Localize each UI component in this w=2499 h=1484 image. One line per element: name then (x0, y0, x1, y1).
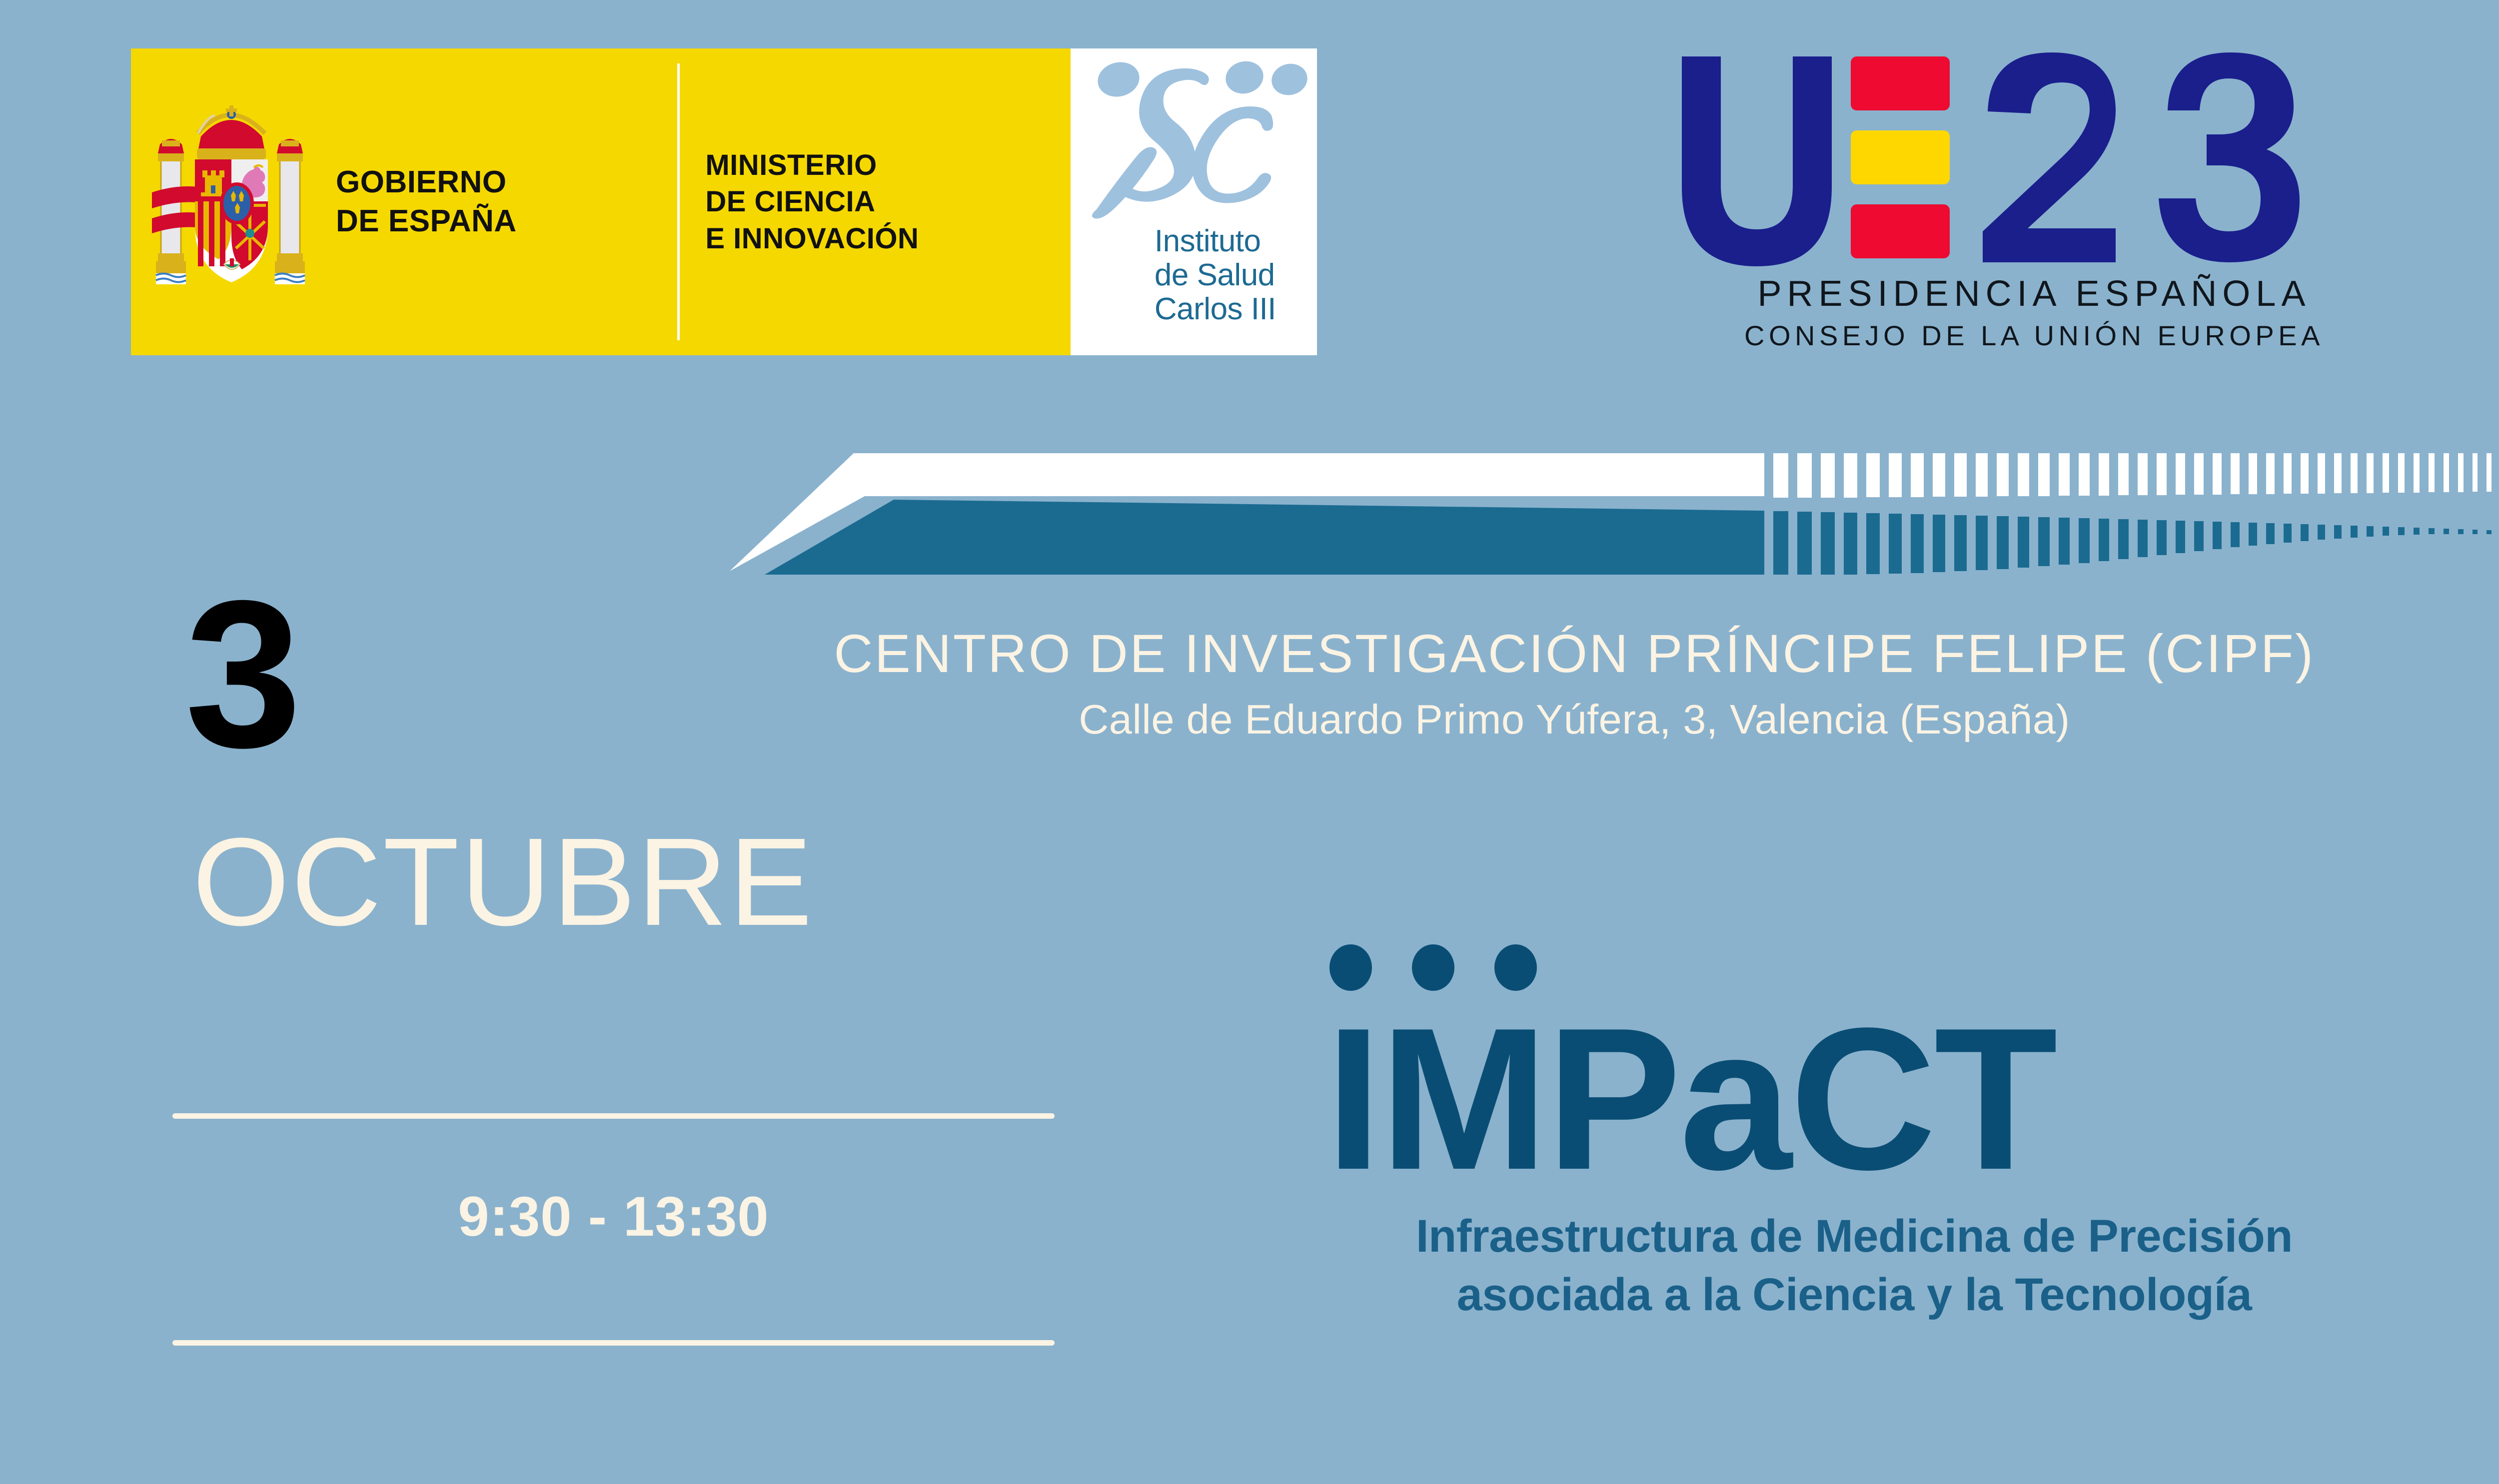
instituto-salud-carlos-iii-logo: Instituto de Salud Carlos III (1071, 48, 1317, 355)
impact-dot-3 (1494, 944, 1537, 991)
ue23-tagline-2: CONSEJO DE LA UNIÓN EUROPEA (1677, 319, 2392, 352)
impact-dot-1 (1329, 944, 1372, 991)
impact-wordmark: IMPaCT (1325, 1006, 2499, 1192)
decorative-arrow-bar (715, 430, 2499, 575)
impact-subtitle: Infraestructura de Medicina de Precisión… (1304, 1207, 2499, 1325)
isc-monogram-icon (1086, 59, 1315, 224)
spain-coat-of-arms-icon (149, 94, 314, 309)
ue23-presidency-logo: PRESIDENCIA ESPAÑOLA CONSEJO DE LA UNIÓN… (1677, 47, 2392, 372)
ue23-tagline-1: PRESIDENCIA ESPAÑOLA (1677, 273, 2392, 314)
impact-subtitle-line-2: asociada a la Ciencia y la Tecnología (1304, 1266, 2404, 1325)
venue-address: Calle de Eduardo Primo Yúfera, 3, Valenc… (600, 696, 2499, 743)
event-day-number: 3 (185, 570, 298, 779)
ministerio-line-1: MINISTERIO (705, 147, 919, 183)
impact-dots-icon (1329, 944, 2499, 997)
logo-divider (677, 63, 680, 340)
venue-info: CENTRO DE INVESTIGACIÓN PRÍNCIPE FELIPE … (600, 622, 2499, 743)
gobierno-line-2: DE ESPAÑA (336, 202, 517, 241)
isciii-line-2: de Salud (1155, 258, 1276, 292)
event-time-range: 9:30 - 13:30 (172, 1184, 1055, 1249)
venue-name: CENTRO DE INVESTIGACIÓN PRÍNCIPE FELIPE … (600, 622, 2499, 685)
isciii-line-3: Carlos III (1155, 292, 1276, 326)
ministerio-line-3: E INNOVACIÓN (705, 220, 919, 257)
ministerio-de-ciencia-logo: MINISTERIO DE CIENCIA E INNOVACIÓN (677, 48, 1071, 355)
impact-dot-2 (1412, 944, 1454, 991)
institutional-logo-strip: GOBIERNO DE ESPAÑA MINISTERIO DE CIENCIA… (131, 48, 1317, 355)
ue23-wordmark-icon (1677, 47, 2392, 267)
impact-subtitle-line-1: Infraestructura de Medicina de Precisión (1304, 1207, 2404, 1266)
event-month-name: OCTUBRE (192, 819, 814, 944)
impact-logo: IMPaCT Infraestructura de Medicina de Pr… (1299, 944, 2499, 1325)
deco-teal-band (765, 500, 2499, 575)
time-divider-top (172, 1113, 1055, 1119)
time-divider-bottom (172, 1340, 1055, 1346)
ministerio-line-2: DE CIENCIA (705, 183, 919, 220)
isciii-line-1: Instituto (1155, 224, 1276, 258)
gobierno-line-1: GOBIERNO (336, 163, 517, 202)
gobierno-de-espana-logo: GOBIERNO DE ESPAÑA (131, 48, 677, 355)
